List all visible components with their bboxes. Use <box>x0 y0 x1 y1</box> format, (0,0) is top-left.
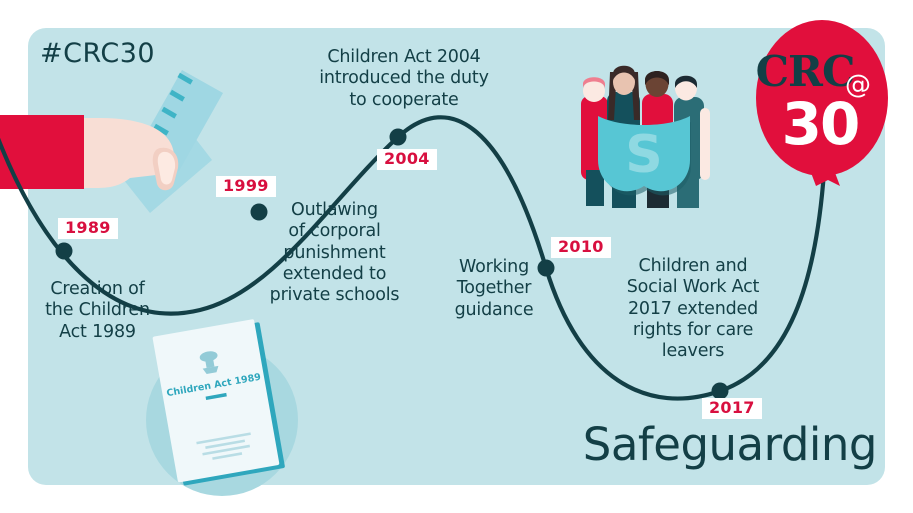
milestone-caption-2004: Children Act 2004 introduced the duty to… <box>288 47 520 111</box>
year-badge-2004: 2004 <box>377 149 437 170</box>
milestone-caption-2010: Working Together guidance <box>440 257 548 321</box>
year-badge-2010: 2010 <box>551 237 611 258</box>
year-badge-1989: 1989 <box>58 218 118 239</box>
milestone-caption-2017: Children and Social Work Act 2017 extend… <box>610 256 776 363</box>
year-badge-1999: 1999 <box>216 176 276 197</box>
milestone-caption-1989: Creation of the Children Act 1989 <box>10 279 185 343</box>
infographic-canvas: Children Act 1989 <box>0 0 913 513</box>
hashtag-label: #CRC30 <box>40 38 155 69</box>
year-badge-2017: 2017 <box>702 398 762 419</box>
balloon-crc-text: CRC <box>756 47 855 96</box>
balloon-30-text: 30 <box>782 90 859 158</box>
milestone-caption-1999: Outlawing of corporal punishment extende… <box>262 200 407 307</box>
page-title: Safeguarding <box>583 418 877 471</box>
